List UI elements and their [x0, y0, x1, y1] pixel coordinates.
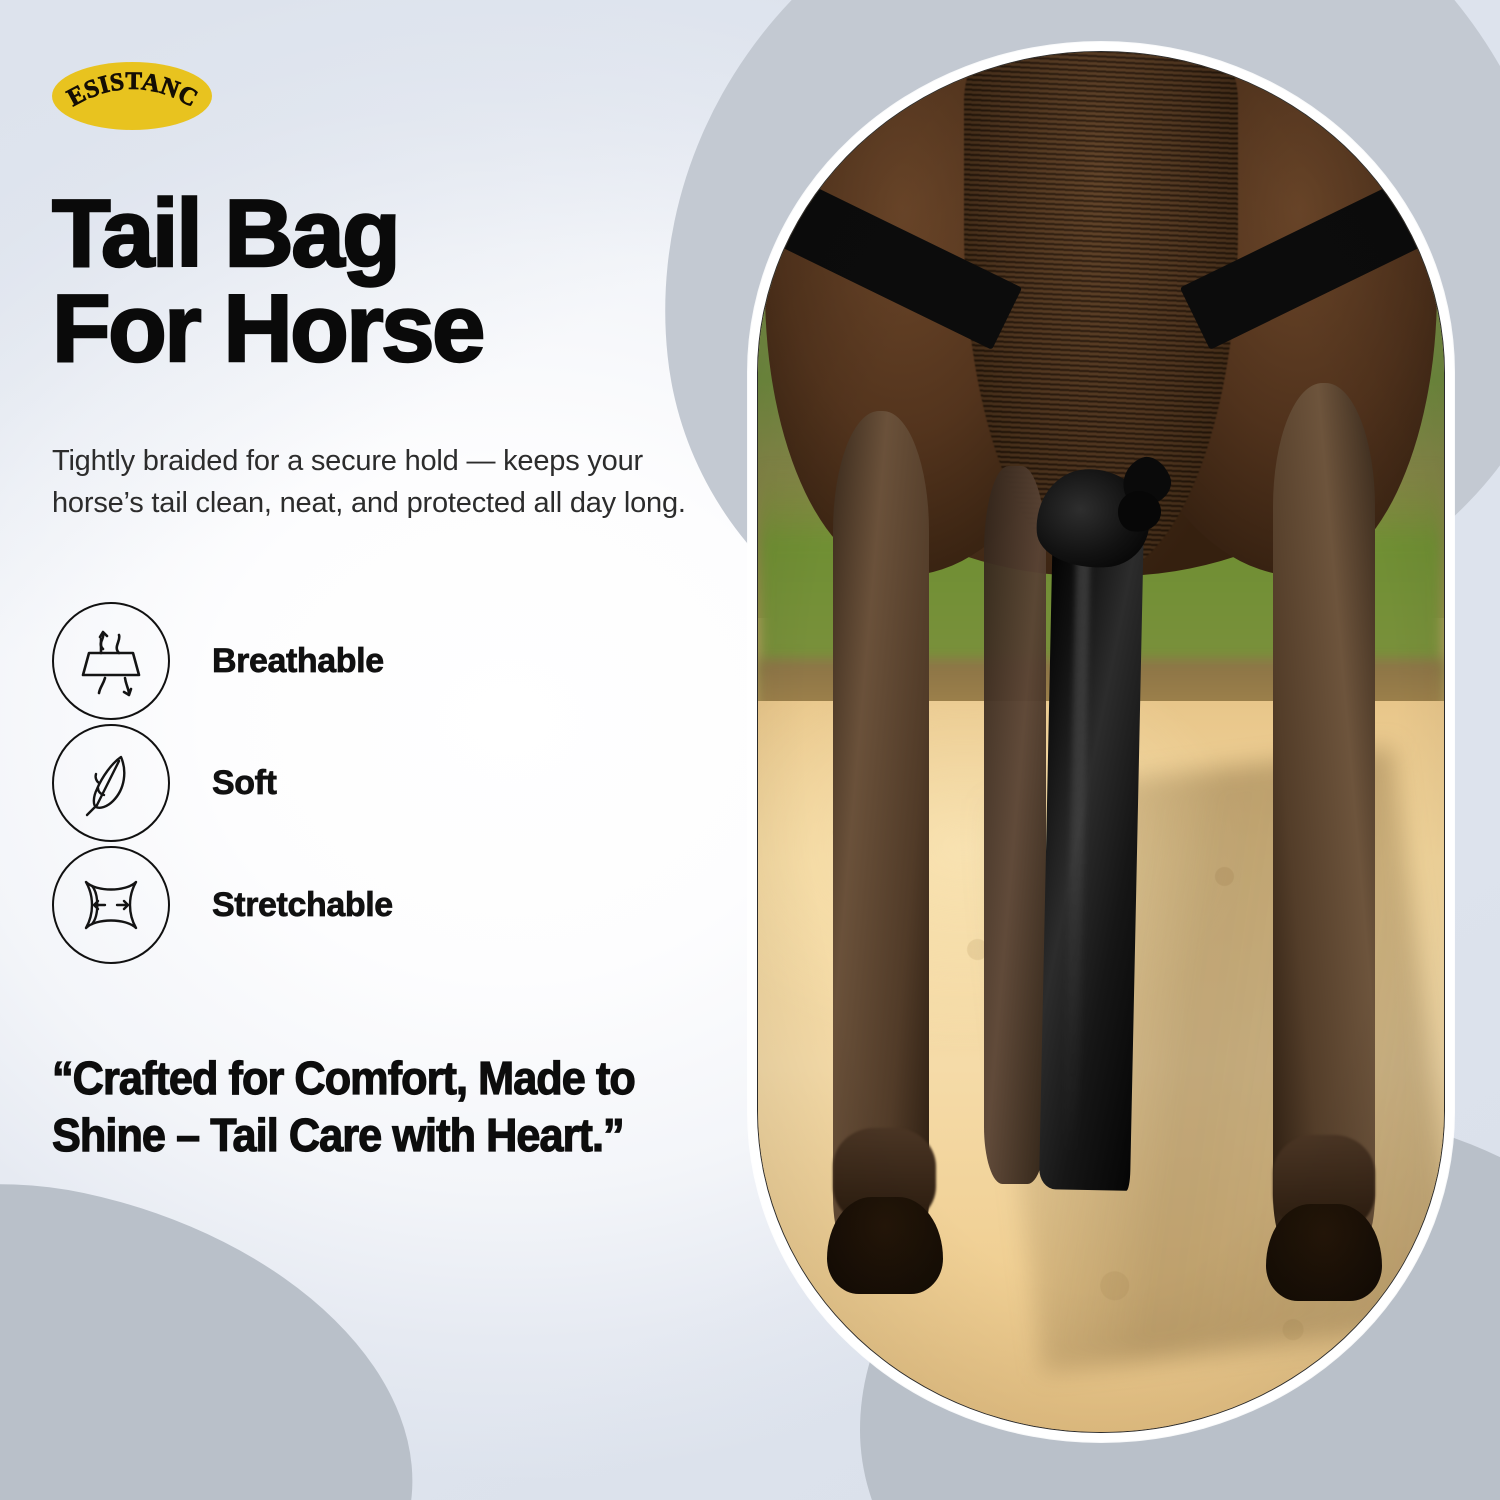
product-photo-frame	[748, 42, 1454, 1442]
headline-line-2: For Horse	[52, 281, 700, 376]
breathable-icon-glyph	[73, 623, 149, 699]
feather-icon-glyph	[73, 745, 149, 821]
feature-label-soft: Soft	[212, 764, 277, 803]
brand-logo: RESISTANCE	[52, 62, 212, 130]
breathable-icon	[52, 602, 170, 720]
feature-item-stretchable: Stretchable	[52, 844, 700, 966]
product-infographic: RESISTANCE Tail Bag For Horse Tightly br…	[0, 0, 1500, 1500]
headline-line-1: Tail Bag	[52, 186, 700, 281]
quote-line-2: Shine – Tail Care with Heart.”	[52, 1107, 661, 1164]
tail-bag-product	[1039, 513, 1144, 1191]
feature-label-breathable: Breathable	[212, 642, 384, 681]
feature-item-soft: Soft	[52, 722, 700, 844]
content-column: RESISTANCE Tail Bag For Horse Tightly br…	[0, 0, 740, 1500]
feature-list: Breathable Soft	[52, 600, 700, 966]
svg-text:RESISTANCE: RESISTANCE	[52, 62, 202, 113]
quote-line-1: “Crafted for Comfort, Made to	[52, 1050, 661, 1107]
page-title: Tail Bag For Horse	[52, 186, 700, 376]
stretch-icon	[52, 846, 170, 964]
product-description: Tightly braided for a secure hold — keep…	[52, 440, 692, 524]
logo-arc-svg: RESISTANCE	[52, 62, 212, 130]
tail-bag-highlight	[1063, 541, 1091, 1163]
logo-arc-text-wrap: RESISTANCE	[52, 62, 212, 130]
brand-name-text: RESISTANCE	[52, 62, 202, 113]
feature-label-stretchable: Stretchable	[212, 886, 393, 925]
product-photo	[757, 51, 1445, 1433]
horse-leg-background	[984, 466, 1046, 1184]
horse-hind-leg-right	[1273, 383, 1376, 1266]
stretch-icon-glyph	[72, 866, 150, 944]
horse-hoof-right	[1266, 1204, 1383, 1301]
feature-item-breathable: Breathable	[52, 600, 700, 722]
tagline-quote: “Crafted for Comfort, Made to Shine – Ta…	[52, 1050, 661, 1164]
horse-hoof-left	[827, 1197, 944, 1294]
feather-icon	[52, 724, 170, 842]
